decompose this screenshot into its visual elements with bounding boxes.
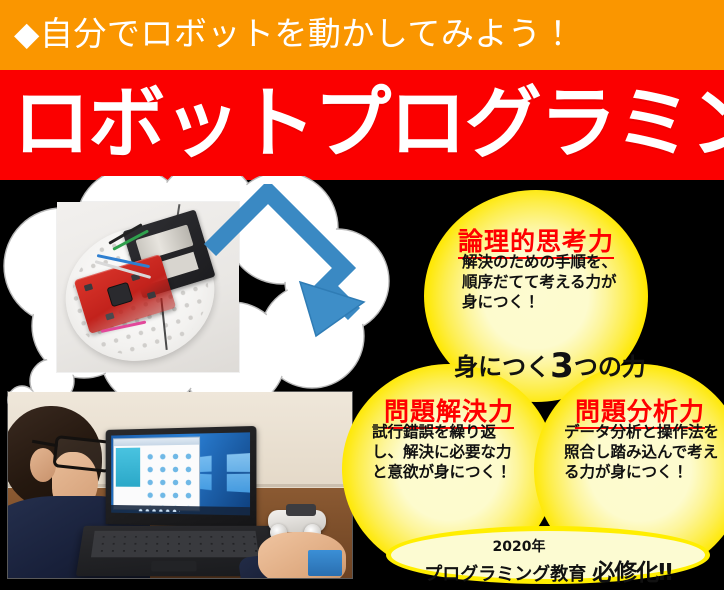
- laptop-touchpad: [151, 561, 197, 571]
- header-orange-band: ◆自分でロボットを動かしてみよう！: [0, 0, 724, 70]
- banner-line2: プログラミング教育必修化‼: [391, 553, 705, 587]
- banner-emphasis: 必修化‼: [592, 560, 671, 586]
- person-ear: [30, 448, 56, 482]
- person-laptop-photo: [8, 392, 352, 578]
- laptop-screen: [106, 426, 257, 528]
- desk-robot-board: [286, 504, 316, 516]
- center-heading-number: 3: [550, 346, 574, 386]
- programming-app-window: [113, 437, 200, 512]
- skill-bubble-body: 解決のための手順を、順序だてて考える力が身につく！: [462, 252, 618, 312]
- app-palette-panel: [116, 448, 140, 487]
- poster-root: ◆自分でロボットを動かしてみよう！ ロボットプログラミング教室: [0, 0, 724, 590]
- flow-arrow-icon: [204, 184, 374, 344]
- page-title: ロボットプログラミング教室: [13, 76, 712, 172]
- laptop-desktop: [111, 432, 250, 515]
- windows-taskbar: [111, 505, 250, 515]
- header-tagline: ◆自分でロボットを動かしてみよう！: [14, 8, 575, 60]
- header-red-band: ロボットプログラミング教室: [0, 70, 724, 180]
- app-block-canvas: [144, 450, 195, 507]
- center-heading-prefix: 身につく: [454, 353, 550, 381]
- banner-subject: プログラミング教育: [424, 564, 586, 585]
- mandatory-banner: 2020年 プログラミング教育必修化‼: [386, 526, 710, 584]
- app-titlebar: [114, 438, 199, 447]
- windows-logo-icon-right: [227, 453, 250, 492]
- glasses-icon: [52, 435, 113, 473]
- skill-bubble-body: データ分析と操作法を照合し踏み込んで考える力が身につく！: [564, 422, 720, 482]
- skill-bubble-body: 試行錯誤を繰り返し、解決に必要な力と意欲が身につく！: [372, 422, 526, 482]
- center-heading-suffix: つの力: [574, 353, 646, 381]
- laptop-keyboard: [91, 531, 259, 557]
- blue-accessory: [308, 550, 342, 576]
- center-heading: 身につく3つの力: [432, 346, 668, 386]
